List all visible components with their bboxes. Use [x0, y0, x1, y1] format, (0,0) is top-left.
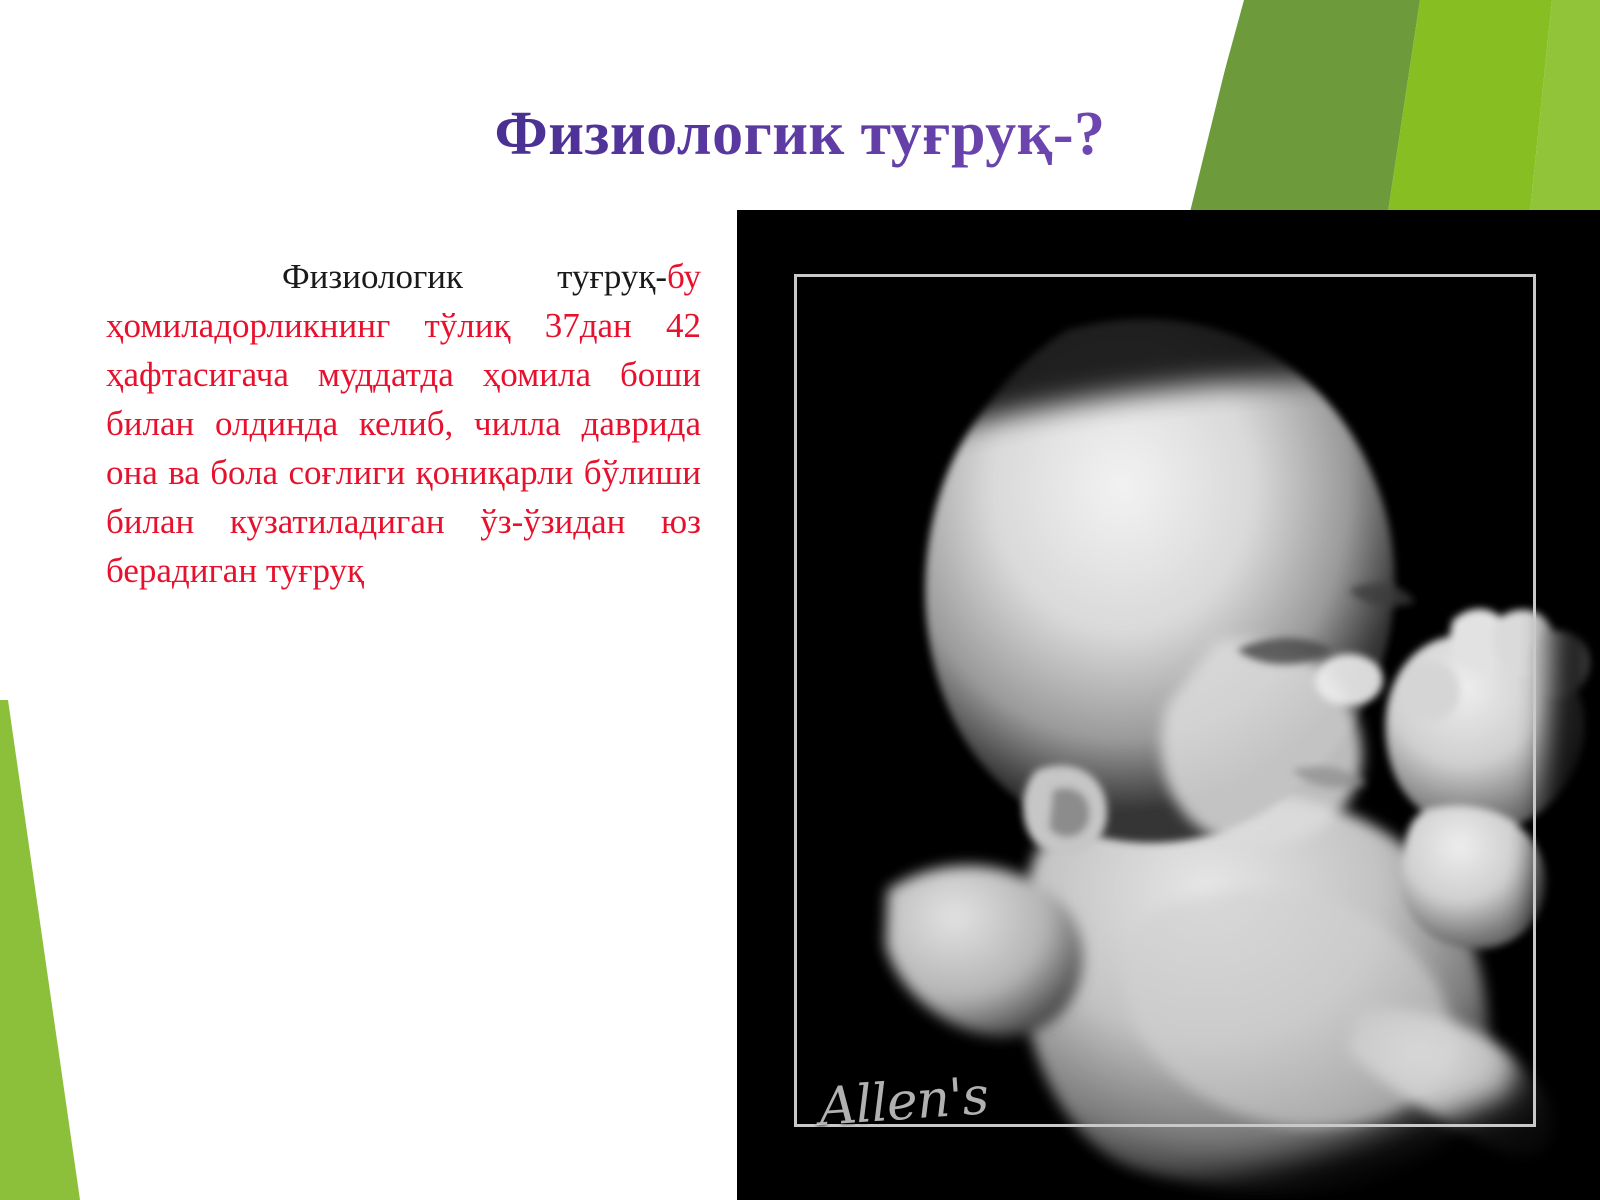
- page-title: Физиологик туғруқ-?: [0, 100, 1600, 169]
- lead-definition-text: Физиологик туғруқ-: [282, 257, 667, 296]
- highlight-definition-text: бу ҳомиладорликнинг тўлиқ 37дан 42 ҳафта…: [106, 257, 701, 590]
- green-wedge-decoration: [0, 700, 260, 1200]
- presentation-slide: Физиологик туғруқ-? Физиологик туғруқ-бу…: [0, 0, 1600, 1200]
- green-wedge: [0, 700, 80, 1200]
- newborn-baby-photo: [737, 210, 1600, 1200]
- photo-watermark: Allen's: [817, 1066, 990, 1138]
- photo-panel: Allen's: [737, 210, 1600, 1200]
- body-paragraph: Физиологик туғруқ-бу ҳомиладорликнинг тў…: [106, 252, 701, 595]
